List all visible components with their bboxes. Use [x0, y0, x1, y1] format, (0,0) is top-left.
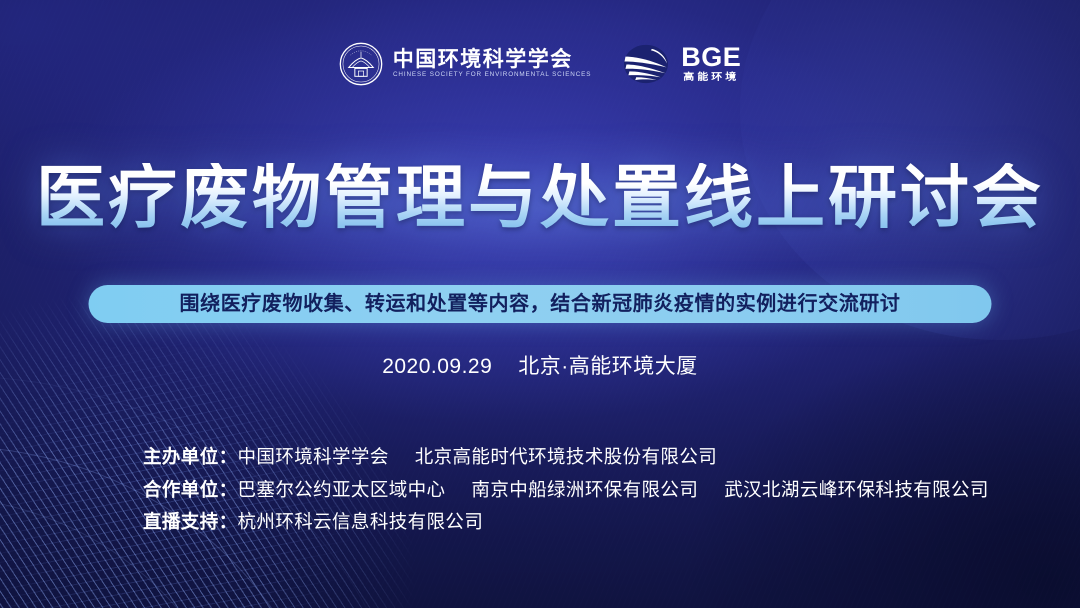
- date-venue-bar: 2020.09.29 北京·高能环境大厦: [0, 356, 1080, 377]
- bge-swoosh-icon: [621, 42, 671, 86]
- credit-org-list: 杭州环科云信息科技有限公司: [238, 513, 484, 532]
- credit-org: 巴塞尔公约亚太区域中心: [238, 481, 446, 500]
- credit-label: 直播支持：: [143, 513, 238, 532]
- bge-logo: BGE 高能环境: [621, 42, 741, 86]
- credit-org: 中国环境科学学会: [238, 448, 389, 467]
- cses-seal-icon: [339, 42, 383, 86]
- credit-org: 杭州环科云信息科技有限公司: [238, 513, 484, 532]
- subtitle-text: 围绕医疗废物收集、转运和处置等内容，结合新冠肺炎疫情的实例进行交流研讨: [180, 294, 901, 314]
- event-venue: 北京·高能环境大厦: [518, 356, 698, 377]
- webinar-poster: 中国环境科学学会 CHINESE SOCIETY FOR ENVIRONMENT…: [0, 0, 1080, 608]
- credit-label: 主办单位：: [143, 448, 238, 467]
- credit-org: 武汉北湖云峰环保科技有限公司: [724, 481, 989, 500]
- credit-label: 合作单位：: [143, 481, 238, 500]
- credits-block: 主办单位： 中国环境科学学会 北京高能时代环境技术股份有限公司 合作单位： 巴塞…: [143, 448, 989, 532]
- bge-name-en: BGE: [681, 45, 741, 71]
- bge-logo-text: BGE 高能环境: [681, 45, 741, 84]
- cses-name-en: CHINESE SOCIETY FOR ENVIRONMENTAL SCIENC…: [393, 72, 591, 78]
- credit-org-list: 中国环境科学学会 北京高能时代环境技术股份有限公司: [238, 448, 718, 467]
- bge-name-cn: 高能环境: [683, 73, 739, 83]
- cses-logo: 中国环境科学学会 CHINESE SOCIETY FOR ENVIRONMENT…: [339, 42, 587, 86]
- credit-line-partners: 合作单位： 巴塞尔公约亚太区域中心 南京中船绿洲环保有限公司 武汉北湖云峰环保科…: [143, 481, 989, 500]
- cses-logo-text: 中国环境科学学会 CHINESE SOCIETY FOR ENVIRONMENT…: [393, 49, 587, 78]
- event-date: 2020.09.29: [382, 356, 492, 377]
- credit-org: 北京高能时代环境技术股份有限公司: [415, 448, 717, 467]
- cses-name-cn: 中国环境科学学会: [393, 49, 587, 70]
- credit-line-organizers: 主办单位： 中国环境科学学会 北京高能时代环境技术股份有限公司: [143, 448, 989, 467]
- credit-org: 南京中船绿洲环保有限公司: [471, 481, 698, 500]
- subtitle-pill: 围绕医疗废物收集、转运和处置等内容，结合新冠肺炎疫情的实例进行交流研讨: [89, 285, 992, 323]
- credit-org-list: 巴塞尔公约亚太区域中心 南京中船绿洲环保有限公司 武汉北湖云峰环保科技有限公司: [238, 481, 989, 500]
- logo-row: 中国环境科学学会 CHINESE SOCIETY FOR ENVIRONMENT…: [0, 42, 1080, 86]
- credit-line-broadcast: 直播支持： 杭州环科云信息科技有限公司: [143, 513, 989, 532]
- page-title: 医疗废物管理与处置线上研讨会: [0, 163, 1080, 232]
